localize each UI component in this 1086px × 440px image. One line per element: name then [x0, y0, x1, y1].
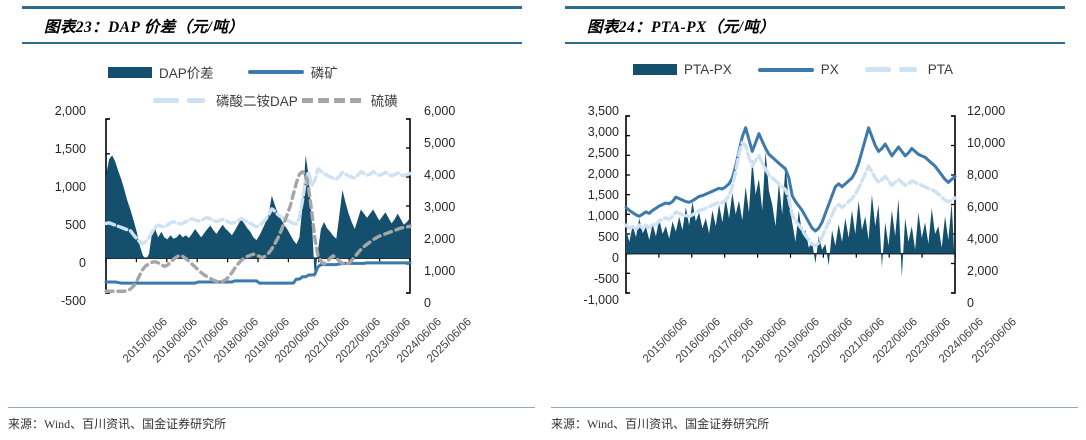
chart-23-legend: DAP价差 磷矿 磷酸二铵DAP	[108, 62, 398, 110]
y2-axis-tick: 0	[967, 296, 1055, 310]
y-axis-tick: 0	[533, 251, 619, 265]
chart-24-legend: PTA-PX PX PTA	[633, 62, 953, 77]
y-axis-tick: 3,500	[533, 104, 619, 118]
y-axis-tick: 500	[533, 230, 619, 244]
legend-item-sulfur[interactable]: 硫磺	[302, 90, 398, 110]
legend-item-pta[interactable]: PTA	[865, 62, 953, 77]
chart-24-svg	[618, 112, 963, 307]
chart-23-plot	[98, 115, 418, 305]
legend-label: PTA-PX	[684, 62, 732, 77]
area-swatch-icon	[108, 67, 152, 78]
legend-label: 磷酸二铵DAP	[216, 90, 298, 110]
y2-axis-tick: 4,000	[967, 232, 1055, 246]
y-axis-tick: 2,000	[533, 167, 619, 181]
title-rule-bottom	[22, 42, 522, 44]
y2-axis-tick: 6,000	[424, 104, 504, 118]
title-rule-bottom	[565, 42, 1065, 44]
y-axis-tick: 0	[8, 256, 86, 270]
figure-pair-page: 图表23：DAP 价差（元/吨） DAP价差 磷矿	[0, 0, 1086, 440]
legend-label: PX	[821, 62, 839, 77]
chart-24-title-block: 图表24：PTA-PX（元/吨）	[565, 6, 1065, 44]
panel-chart-23: 图表23：DAP 价差（元/吨） DAP价差 磷矿	[0, 0, 543, 440]
chart-23-title-block: 图表23：DAP 价差（元/吨）	[22, 6, 522, 44]
dashed-line-light-icon	[153, 98, 209, 103]
y2-axis-tick: 12,000	[967, 104, 1055, 118]
chart-24-title: 图表24：PTA-PX（元/吨）	[565, 9, 1065, 42]
dashed-line-light-icon	[865, 67, 921, 72]
legend-item-dap[interactable]: 磷酸二铵DAP	[153, 90, 298, 110]
y-axis-tick: 1,000	[8, 180, 86, 194]
y2-axis-tick: 0	[424, 296, 504, 310]
y2-axis-tick: 6,000	[967, 200, 1055, 214]
solid-line-icon	[758, 68, 814, 72]
legend-label: 磷矿	[311, 62, 338, 82]
chart-23-title: 图表23：DAP 价差（元/吨）	[22, 9, 522, 42]
y-axis-tick: -500	[533, 272, 619, 286]
y2-axis-tick: 10,000	[967, 136, 1055, 150]
chart-23-source: 来源：Wind、百川资讯、国金证券研究所	[8, 415, 226, 432]
y2-axis-tick: 5,000	[424, 136, 504, 150]
chart-24-plot	[618, 112, 963, 307]
y2-axis-tick: 2,000	[967, 264, 1055, 278]
area-swatch-icon	[633, 64, 677, 75]
legend-item-px[interactable]: PX	[758, 62, 839, 77]
dashed-line-gray-icon	[302, 98, 364, 103]
y2-axis-tick: 2,000	[424, 232, 504, 246]
y2-axis-tick: 3,000	[424, 200, 504, 214]
y2-axis-tick: 1,000	[424, 264, 504, 278]
panel-chart-24: 图表24：PTA-PX（元/吨） PTA-PX PX PTA	[543, 0, 1086, 440]
legend-label: 硫磺	[371, 90, 398, 110]
y-axis-tick: 1,500	[8, 142, 86, 156]
footer-rule	[551, 407, 1078, 408]
y-axis-tick: 500	[8, 218, 86, 232]
legend-item-pta-px[interactable]: PTA-PX	[633, 62, 732, 77]
legend-label: PTA	[928, 62, 953, 77]
y-axis-tick: -1,000	[533, 293, 619, 307]
y2-axis-tick: 4,000	[424, 168, 504, 182]
y-axis-tick: -500	[8, 294, 86, 308]
footer-rule	[8, 407, 535, 408]
legend-label: DAP价差	[159, 62, 214, 82]
y-axis-tick: 2,500	[533, 146, 619, 160]
chart-23-svg	[98, 115, 418, 305]
y2-axis-tick: 8,000	[967, 168, 1055, 182]
chart-24-source: 来源：Wind、百川资讯、国金证券研究所	[551, 415, 769, 432]
legend-item-phosphate-ore[interactable]: 磷矿	[248, 62, 338, 82]
y-axis-tick: 3,000	[533, 125, 619, 139]
legend-item-dap-spread[interactable]: DAP价差	[108, 62, 214, 82]
y-axis-tick: 1,500	[533, 188, 619, 202]
solid-line-icon	[248, 70, 304, 74]
y-axis-tick: 2,000	[8, 104, 86, 118]
y-axis-tick: 1,000	[533, 209, 619, 223]
